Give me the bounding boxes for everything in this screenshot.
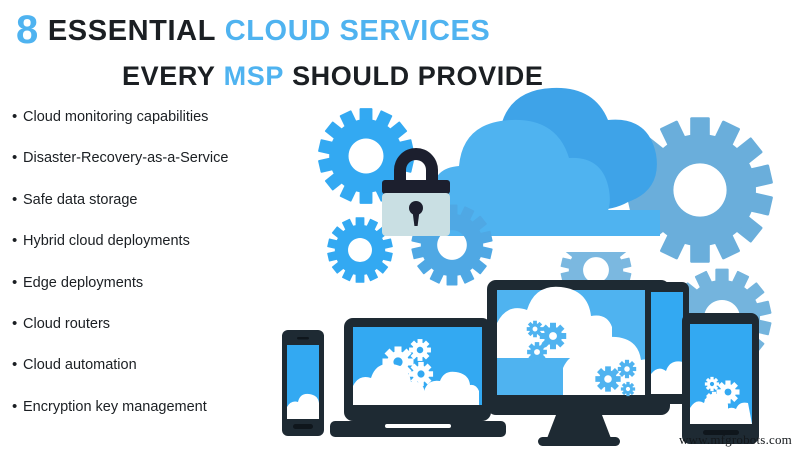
- heading-line2-dark-2: SHOULD PROVIDE: [292, 61, 543, 91]
- list-item: •Encryption key management: [12, 398, 302, 416]
- list-item-label: Cloud monitoring capabilities: [23, 109, 208, 125]
- list-item-label: Cloud automation: [23, 357, 137, 373]
- heading-line2-blue: MSP: [224, 61, 284, 91]
- heading-line1-blue: CLOUD SERVICES: [225, 15, 491, 47]
- heading-line-1: 8ESSENTIAL CLOUD SERVICES: [0, 10, 560, 50]
- desktop-monitor: [487, 280, 670, 446]
- list-item: •Hybrid cloud deployments: [12, 232, 302, 250]
- bullet-marker-icon: •: [12, 108, 23, 126]
- list-item-label: Edge deployments: [23, 275, 143, 291]
- list-item: •Safe data storage: [12, 191, 302, 209]
- heading-space-3: [284, 61, 292, 91]
- heading-line1-dark: ESSENTIAL: [48, 15, 216, 47]
- list-item: •Edge deployments: [12, 274, 302, 292]
- infographic-canvas: 8ESSENTIAL CLOUD SERVICES EVERY MSP SHOU…: [0, 0, 800, 454]
- bullet-marker-icon: •: [12, 191, 23, 209]
- list-item: •Cloud monitoring capabilities: [12, 108, 302, 126]
- heading-number: 8: [16, 8, 39, 52]
- heading-line-2: EVERY MSP SHOULD PROVIDE: [0, 63, 560, 90]
- watermark-url: www.mfgrobots.com: [679, 432, 792, 448]
- tablet-front: [682, 313, 759, 444]
- bullet-marker-icon: •: [12, 315, 23, 333]
- bullet-marker-icon: •: [12, 356, 23, 374]
- list-item-label: Cloud routers: [23, 316, 110, 332]
- list-item-label: Hybrid cloud deployments: [23, 233, 190, 249]
- bullet-marker-icon: •: [12, 149, 23, 167]
- bullet-marker-icon: •: [12, 398, 23, 416]
- bullet-list: •Cloud monitoring capabilities •Disaster…: [12, 108, 302, 439]
- bullet-marker-icon: •: [12, 274, 23, 292]
- heading-block: 8ESSENTIAL CLOUD SERVICES EVERY MSP SHOU…: [0, 10, 560, 90]
- bullet-marker-icon: •: [12, 232, 23, 250]
- list-item: •Cloud automation: [12, 356, 302, 374]
- heading-space-1: [216, 15, 225, 47]
- list-item-label: Encryption key management: [23, 399, 207, 415]
- list-item-label: Safe data storage: [23, 192, 137, 208]
- list-item: •Cloud routers: [12, 315, 302, 333]
- heading-space-2: [216, 61, 224, 91]
- heading-line2-dark-1: EVERY: [122, 61, 216, 91]
- list-item-label: Disaster-Recovery-as-a-Service: [23, 150, 228, 166]
- laptop: [330, 318, 506, 437]
- list-item: •Disaster-Recovery-as-a-Service: [12, 149, 302, 167]
